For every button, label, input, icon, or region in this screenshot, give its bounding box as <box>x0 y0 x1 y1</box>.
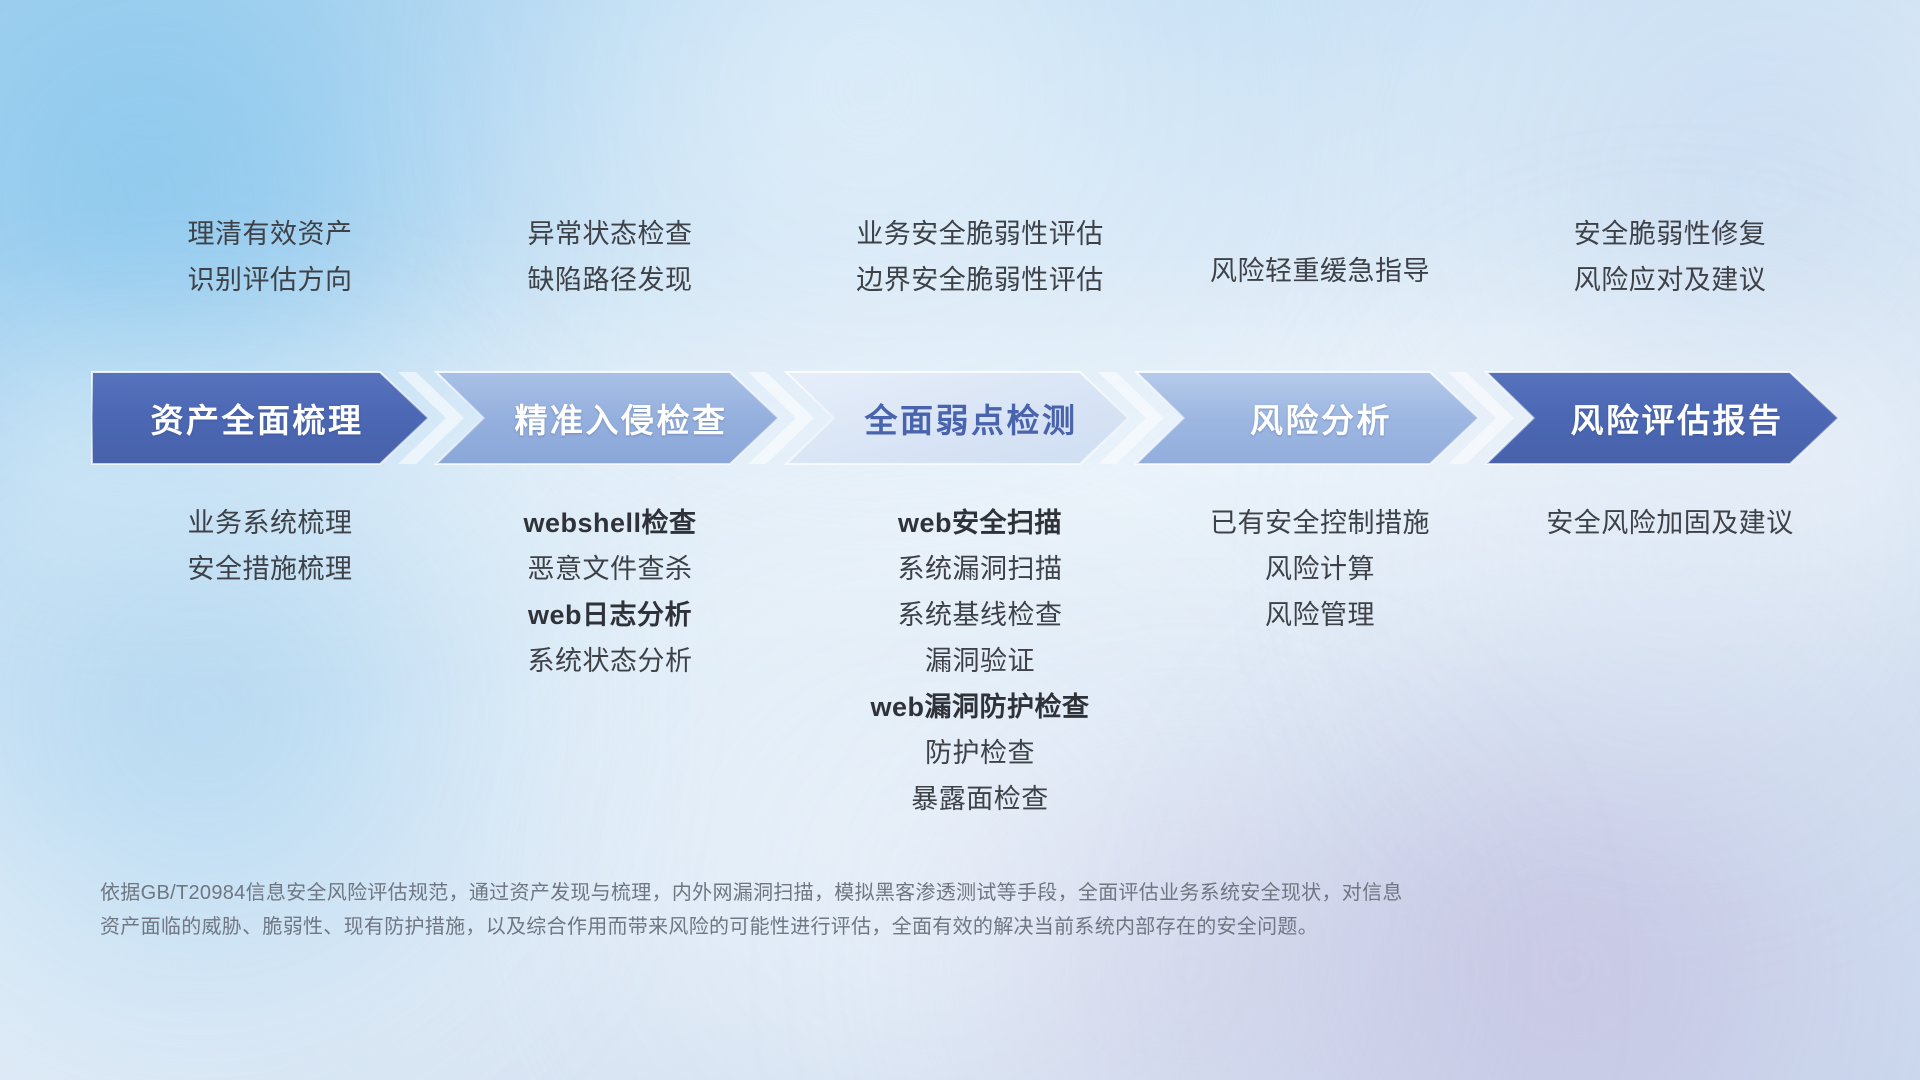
stage-5-top-label: 风险应对及建议 <box>1574 262 1767 298</box>
footer-line-1: 依据GB/T20984信息安全风险评估规范，通过资产发现与梳理，内外网漏洞扫描，… <box>100 876 1740 910</box>
stage-2-top-label: 异常状态检查 <box>528 216 693 252</box>
stage-4-bottom-label: 风险计算 <box>1265 551 1375 587</box>
process-arrow-banner <box>0 368 1920 468</box>
stage-3-top-label: 业务安全脆弱性评估 <box>856 216 1104 252</box>
arrow-shape-stage-1 <box>92 372 428 464</box>
stage-2-bottom-label: 系统状态分析 <box>528 643 693 679</box>
stage-2-bottom-label: web日志分析 <box>528 597 692 633</box>
stage-1-bottom-label: 业务系统梳理 <box>188 505 353 541</box>
footer-description: 依据GB/T20984信息安全风险评估规范，通过资产发现与梳理，内外网漏洞扫描，… <box>100 876 1740 944</box>
stage-5-bottom-label: 安全风险加固及建议 <box>1546 505 1794 541</box>
stage-3-bottom-label: web漏洞防护检查 <box>870 689 1089 725</box>
stage-2-bottom-label: webshell检查 <box>523 505 696 541</box>
stage-3-bottom-label: 系统漏洞扫描 <box>898 551 1063 587</box>
stage-3-bottom-label: 系统基线检查 <box>898 597 1063 633</box>
stage-1-bottom-label: 安全措施梳理 <box>188 551 353 587</box>
stage-3-bottom-label: 漏洞验证 <box>925 643 1035 679</box>
stage-3-bottom-label: 暴露面检查 <box>911 781 1049 817</box>
footer-line-2: 资产面临的威胁、脆弱性、现有防护措施，以及综合作用而带来风险的可能性进行评估，全… <box>100 910 1740 944</box>
process-diagram: 理清有效资产 识别评估方向 异常状态检查 缺陷路径发现 业务安全脆弱性评估 边界… <box>0 0 1920 1080</box>
stage-5-bottom-labels: 安全风险加固及建议 <box>1440 505 1900 541</box>
stage-1-top-label: 理清有效资产 <box>188 216 353 252</box>
stage-3-top-label: 边界安全脆弱性评估 <box>856 262 1104 298</box>
arrow-shape-stage-2 <box>436 372 778 464</box>
stage-5-top-label: 安全脆弱性修复 <box>1574 216 1767 252</box>
stage-3-bottom-label: 防护检查 <box>925 735 1035 771</box>
arrow-shape-stage-3 <box>786 372 1128 464</box>
stage-5-top-labels: 安全脆弱性修复 风险应对及建议 <box>1460 216 1880 326</box>
stage-4-top-label: 风险轻重缓急指导 <box>1210 253 1430 289</box>
stage-3-bottom-label: web安全扫描 <box>898 505 1062 541</box>
arrow-shape-stage-4 <box>1136 372 1478 464</box>
arrow-shape-stage-5 <box>1486 372 1838 464</box>
stage-4-bottom-label: 风险管理 <box>1265 597 1375 633</box>
stage-2-top-label: 缺陷路径发现 <box>528 262 693 298</box>
stage-4-bottom-label: 已有安全控制措施 <box>1210 505 1430 541</box>
stage-2-bottom-label: 恶意文件查杀 <box>528 551 693 587</box>
stage-1-top-label: 识别评估方向 <box>188 262 353 298</box>
